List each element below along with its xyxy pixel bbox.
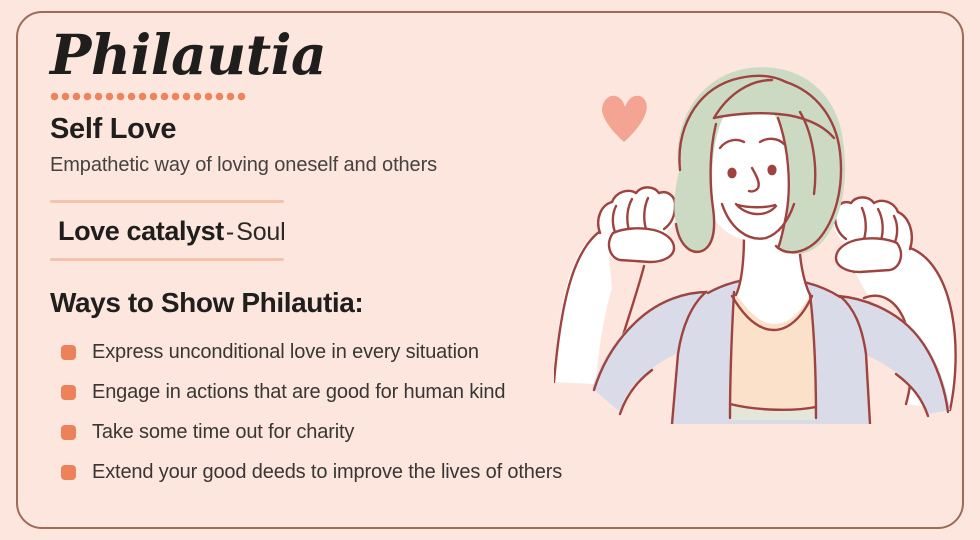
description: Empathetic way of loving oneself and oth… bbox=[50, 153, 690, 178]
eye-left bbox=[727, 168, 736, 179]
list-item: Extend your good deeds to improve the li… bbox=[50, 452, 690, 492]
catalyst-label: Love catalyst bbox=[58, 216, 224, 246]
text-content: Philautia Self Love Empathetic way of lo… bbox=[50, 24, 690, 492]
list-item-label: Express unconditional love in every situ… bbox=[92, 340, 479, 364]
love-catalyst-block: Love catalyst-Soul bbox=[50, 200, 284, 261]
list-item-label: Extend your good deeds to improve the li… bbox=[92, 460, 562, 484]
catalyst-line: Love catalyst-Soul bbox=[50, 203, 284, 258]
list-item: Express unconditional love in every situ… bbox=[50, 332, 690, 372]
philautia-card: Philautia Self Love Empathetic way of lo… bbox=[0, 0, 980, 540]
bullet-square-icon bbox=[61, 425, 76, 440]
list-item: Take some time out for charity bbox=[50, 412, 690, 452]
dotted-divider bbox=[50, 92, 248, 101]
page-title: Philautia bbox=[50, 24, 690, 86]
catalyst-value: Soul bbox=[236, 218, 285, 246]
ways-heading: Ways to Show Philautia: bbox=[50, 287, 690, 319]
catalyst-rule-bottom bbox=[50, 258, 284, 261]
ways-list: Express unconditional love in every situ… bbox=[50, 332, 690, 492]
subtitle: Self Love bbox=[50, 112, 690, 146]
bullet-square-icon bbox=[61, 465, 76, 480]
catalyst-separator: - bbox=[224, 218, 236, 246]
list-item-label: Engage in actions that are good for huma… bbox=[92, 380, 505, 404]
bullet-square-icon bbox=[61, 385, 76, 400]
list-item-label: Take some time out for charity bbox=[92, 420, 354, 444]
list-item: Engage in actions that are good for huma… bbox=[50, 372, 690, 412]
bullet-square-icon bbox=[61, 345, 76, 360]
eye-right bbox=[767, 165, 776, 176]
